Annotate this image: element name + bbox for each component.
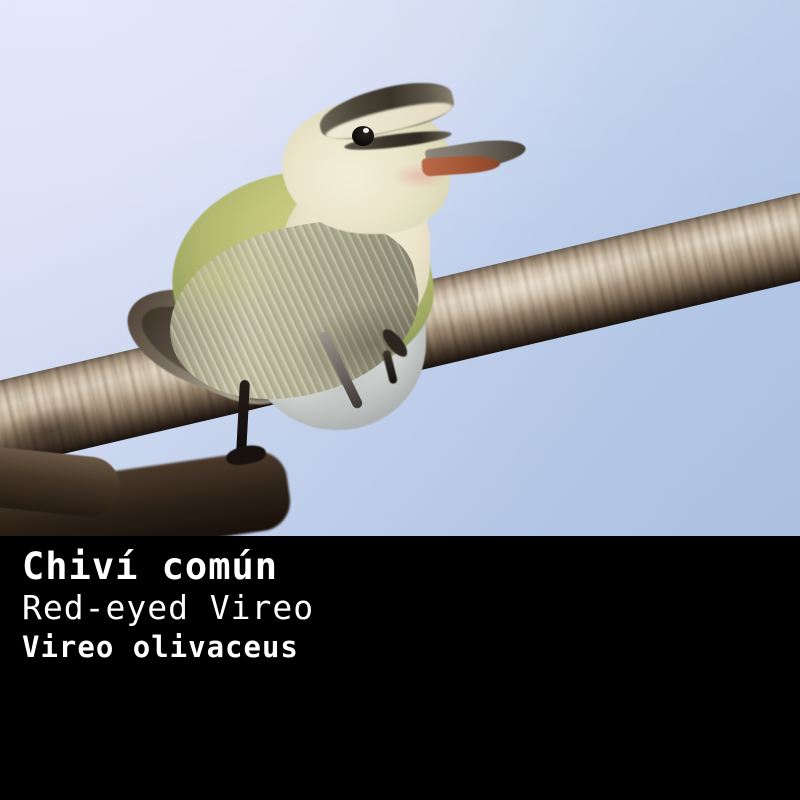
bird-eye-highlight bbox=[363, 128, 369, 133]
scientific-name: Vireo olivaceus bbox=[22, 628, 314, 666]
branch-stub bbox=[0, 444, 123, 519]
english-name: Red-eyed Vireo bbox=[22, 588, 314, 628]
caption-panel: Chiví común Red-eyed Vireo Vireo olivace… bbox=[0, 536, 800, 800]
bird-photograph bbox=[0, 0, 800, 536]
bird-photo-card: Chiví común Red-eyed Vireo Vireo olivace… bbox=[0, 0, 800, 800]
bird-illustration bbox=[130, 60, 550, 450]
common-name: Chiví común bbox=[22, 546, 314, 588]
species-names: Chiví común Red-eyed Vireo Vireo olivace… bbox=[22, 546, 314, 666]
